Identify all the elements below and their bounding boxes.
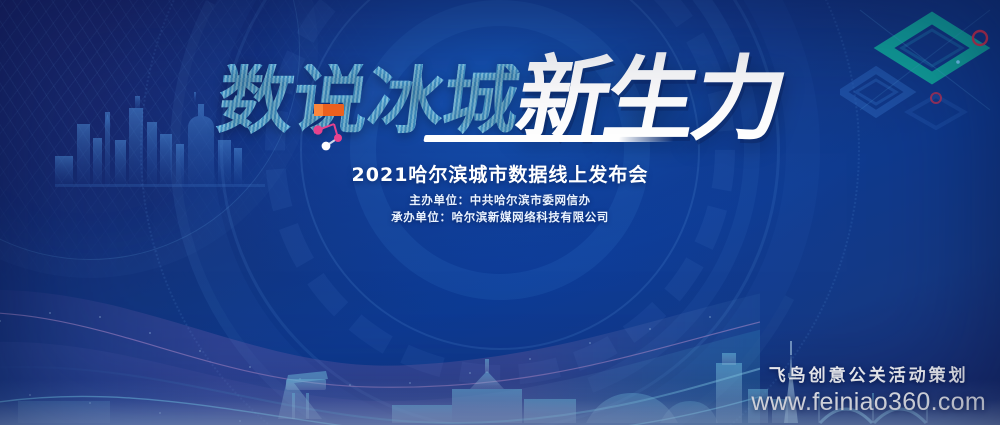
organizer-lines: 主办单位：中共哈尔滨市委网信办 承办单位：哈尔滨新媒网络科技有限公司 (0, 192, 1000, 226)
mesh-grid-decor (0, 0, 390, 290)
title-blue-text: 数说冰城 (214, 64, 527, 137)
watermark-brand: 飞鸟创意公关活动策划 (751, 361, 986, 386)
skyline-bottom-icon (0, 335, 1000, 425)
ring-1 (350, 0, 650, 300)
watermark: 飞鸟创意公关活动策划 www.feiniao360.com (751, 361, 986, 417)
title-white-text: 新生力 (510, 58, 790, 143)
data-motif-icon (304, 94, 364, 156)
particle-waves-decor (0, 255, 760, 425)
watermark-url: www.feiniao360.com (751, 388, 986, 417)
organizer-operator: 承办单位：哈尔滨新媒网络科技有限公司 (0, 209, 1000, 226)
ground-glow (0, 379, 1000, 425)
organizer-host: 主办单位：中共哈尔滨市委网信办 (0, 192, 1000, 209)
title-main: 数说冰城 新生力 (218, 58, 782, 137)
event-subtitle: 2021哈尔滨城市数据线上发布会 (0, 160, 1000, 187)
title-underline (423, 135, 674, 142)
iso-diamond-decor (840, 0, 1000, 130)
title-block: 数说冰城 新生力 (0, 58, 1000, 137)
poster-canvas: 数说冰城 新生力 2021哈尔滨城市数据线上发布会 主办单位：中共哈尔滨市委网信… (0, 0, 1000, 425)
